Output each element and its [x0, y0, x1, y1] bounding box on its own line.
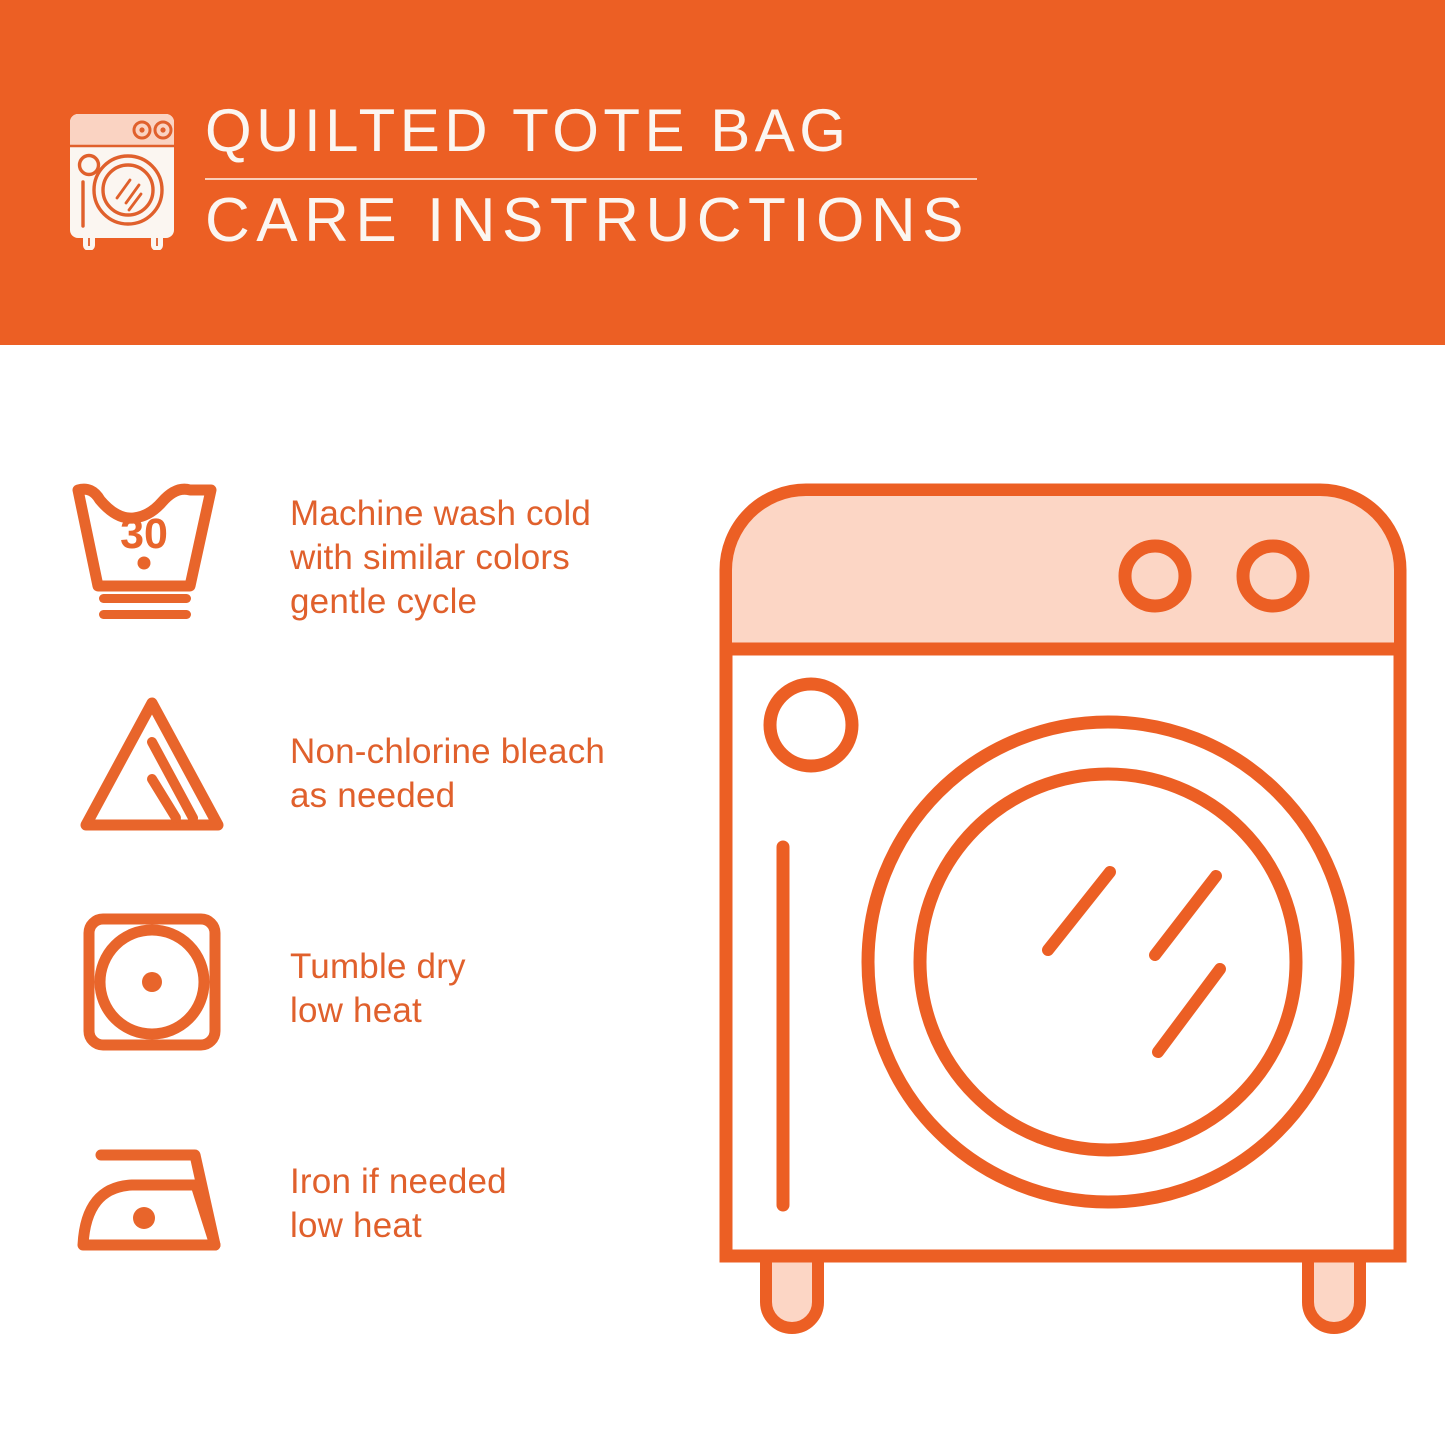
iron-icon: [70, 1115, 235, 1280]
list-item-label: Non-chlorine bleach as needed: [290, 730, 690, 818]
label-line: with similar colors: [290, 536, 690, 580]
front-load-washing-machine-illustration: [718, 482, 1408, 1360]
list-item: Tumble dry low heat: [0, 900, 700, 1115]
care-instructions-card: QUILTED TOTE BAG CARE INSTRUCTIONS 30 Ma…: [0, 0, 1445, 1445]
header-text-block: QUILTED TOTE BAG CARE INSTRUCTIONS: [205, 98, 995, 256]
wash-temperature-value: 30: [120, 510, 168, 558]
wash-tub-icon: 30: [70, 470, 235, 635]
label-line: Non-chlorine bleach: [290, 730, 690, 774]
label-line: Iron if needed: [290, 1160, 690, 1204]
list-item: Non-chlorine bleach as needed: [0, 685, 700, 900]
label-line: as needed: [290, 774, 690, 818]
page-title: QUILTED TOTE BAG: [205, 98, 995, 164]
list-item: 30 Machine wash cold with similar colors…: [0, 470, 700, 685]
iron-heat-dot-icon: [133, 1207, 155, 1229]
bleach-triangle-icon: [70, 685, 235, 850]
label-line: Machine wash cold: [290, 492, 690, 536]
list-item: Iron if needed low heat: [0, 1115, 700, 1330]
wash-dot-icon: [138, 557, 151, 570]
page-subtitle: CARE INSTRUCTIONS: [205, 186, 995, 256]
list-item-label: Machine wash cold with similar colors ge…: [290, 492, 690, 624]
care-instructions-list: 30 Machine wash cold with similar colors…: [0, 470, 700, 1330]
list-item-label: Tumble dry low heat: [290, 945, 690, 1033]
washing-machine-icon: [62, 104, 184, 250]
title-divider: [205, 178, 977, 180]
label-line: Tumble dry: [290, 945, 690, 989]
label-line: low heat: [290, 989, 690, 1033]
tumble-dry-icon: [70, 900, 235, 1065]
label-line: gentle cycle: [290, 580, 690, 624]
header-band: QUILTED TOTE BAG CARE INSTRUCTIONS: [0, 0, 1445, 345]
dry-heat-dot-icon: [142, 972, 162, 992]
control-panel: [732, 496, 1394, 649]
label-line: low heat: [290, 1204, 690, 1248]
list-item-label: Iron if needed low heat: [290, 1160, 690, 1248]
